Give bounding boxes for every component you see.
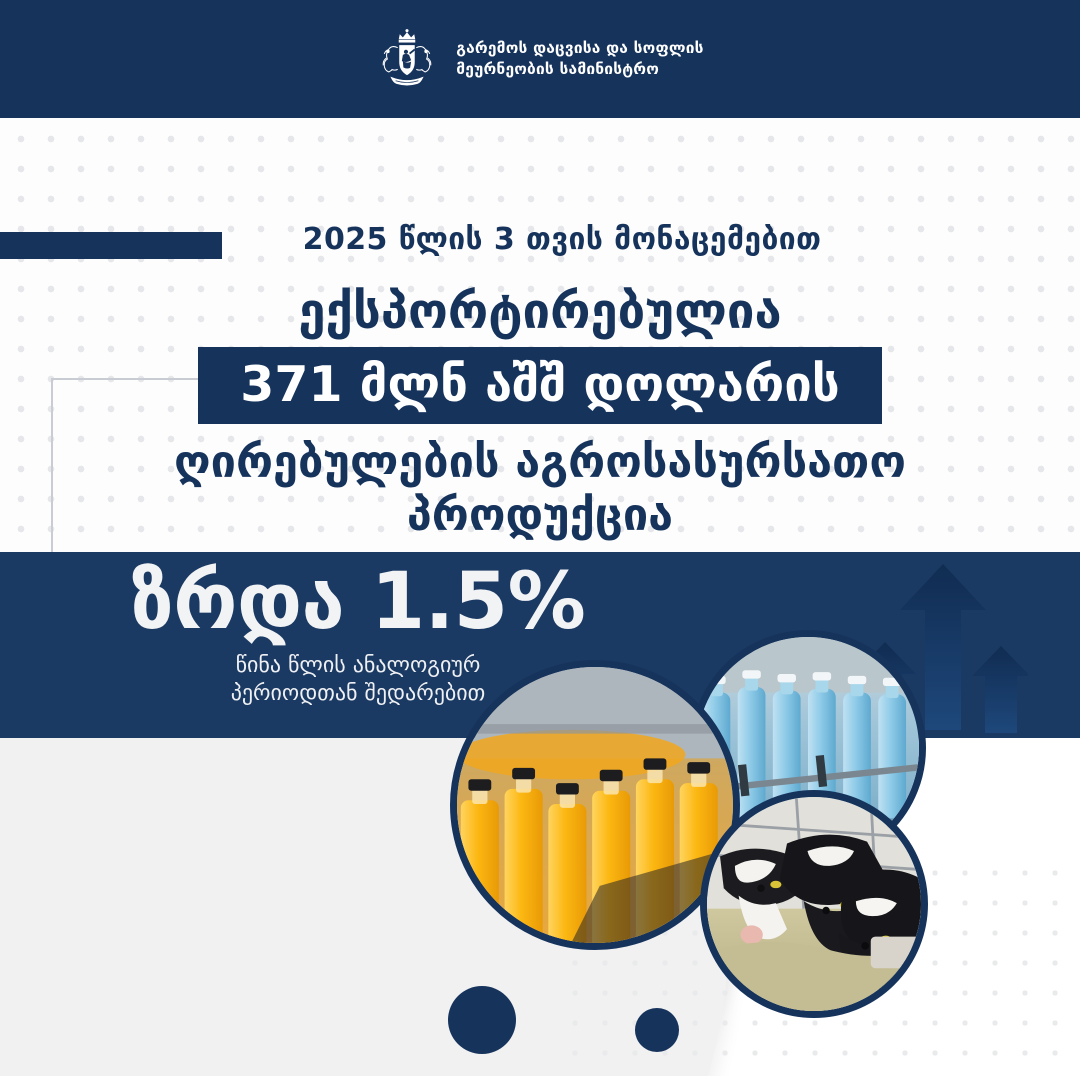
product-label: პროდუქცია <box>0 488 1080 541</box>
georgia-coat-of-arms-icon <box>376 26 438 92</box>
date-line-label: 2025 წლის 3 თვის მონაცემებით <box>44 222 1080 258</box>
infographic-poster: გარემოს დაცვისა და სოფლის მეურნეობის სამ… <box>0 0 1080 1076</box>
decorative-dot-large <box>448 986 516 1054</box>
dairy-cows-feeding <box>700 790 928 1018</box>
headline-block: 2025 წლის 3 თვის მონაცემებით ექსპორტირებ… <box>0 222 1080 541</box>
value-label: ღირებულების აგროსასურსათო <box>0 435 1080 488</box>
orange-juice-bottling-line <box>450 660 740 950</box>
growth-headline: ზრდა 1.5% <box>58 562 658 644</box>
amount-band-wrapper: 371 მლნ აშშ დოლარის <box>0 347 1080 424</box>
ministry-header: გარემოს დაცვისა და სოფლის მეურნეობის სამ… <box>0 0 1080 118</box>
ministry-name-label: გარემოს დაცვისა და სოფლის მეურნეობის სამ… <box>456 38 703 81</box>
decorative-dot-small <box>635 1008 679 1052</box>
amount-highlight-band: 371 მლნ აშშ დოლარის <box>198 347 881 424</box>
exported-label: ექსპორტირებულია <box>0 284 1080 341</box>
